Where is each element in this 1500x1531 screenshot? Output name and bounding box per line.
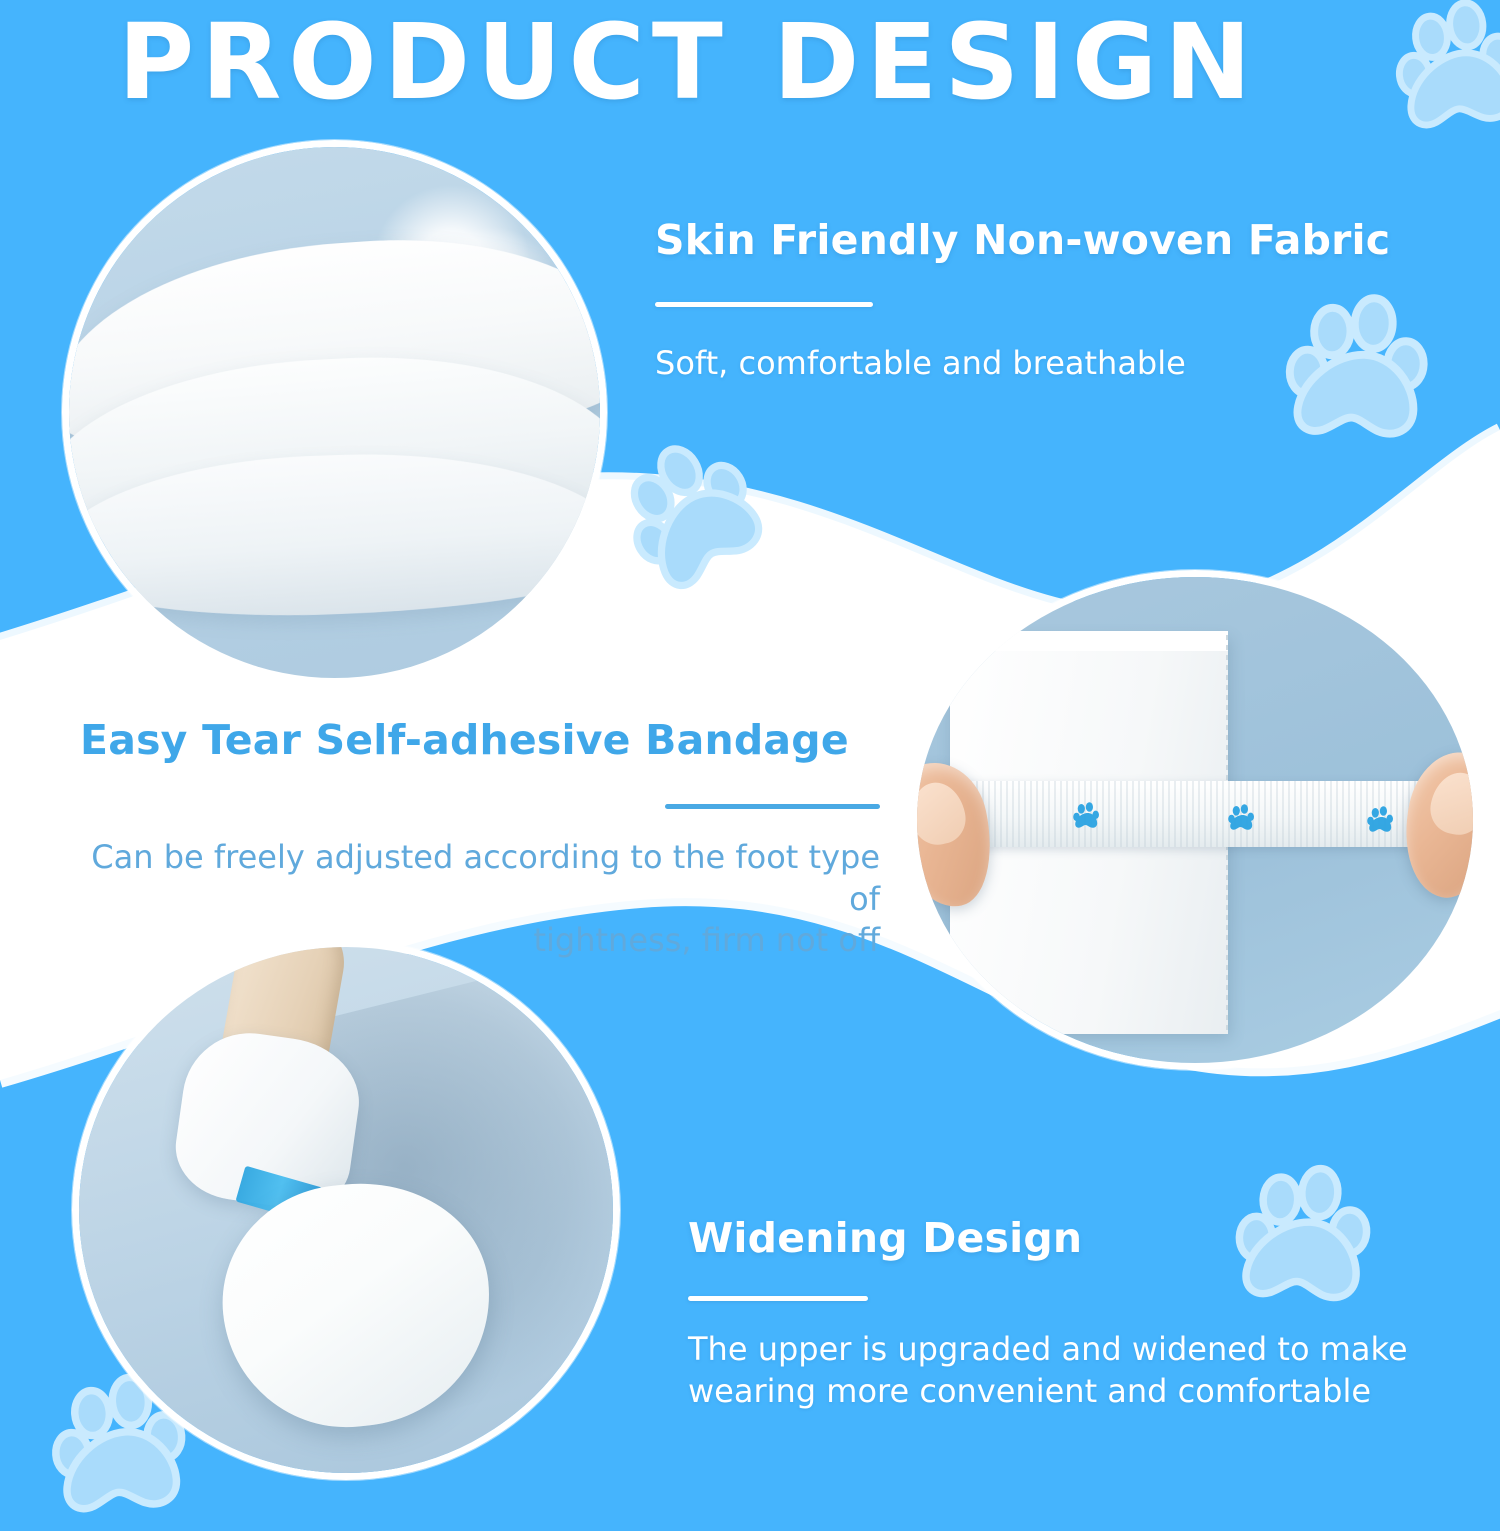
section-heading: Easy Tear Self-adhesive Bandage xyxy=(80,718,880,764)
section-divider xyxy=(655,302,873,307)
infographic-canvas: PRODUCT DESIGN Skin Friendly Non-woven F… xyxy=(0,0,1500,1500)
paw-print-icon xyxy=(1385,0,1500,149)
paw-print-icon xyxy=(1366,805,1396,835)
paw-print-icon xyxy=(1227,803,1257,833)
section-divider xyxy=(688,1296,868,1301)
section-heading: Skin Friendly Non-woven Fabric xyxy=(655,218,1455,264)
photo-dog-paw-boot xyxy=(72,940,620,1480)
photo-nonwoven-fabric xyxy=(62,140,607,685)
page-title: PRODUCT DESIGN xyxy=(118,6,1258,118)
section-body-line-1: Can be freely adjusted according to the … xyxy=(91,838,880,918)
section-body-line-1: The upper is upgraded and widened to mak… xyxy=(688,1330,1408,1368)
section-body-line-2: tightness, firm not off xyxy=(533,921,880,959)
section-body: Can be freely adjusted according to the … xyxy=(80,837,880,962)
section-body: The upper is upgraded and widened to mak… xyxy=(688,1329,1448,1412)
section-easy-tear: Easy Tear Self-adhesive Bandage Can be f… xyxy=(80,718,880,962)
section-divider xyxy=(665,804,880,809)
section-skin-friendly: Skin Friendly Non-woven Fabric Soft, com… xyxy=(655,218,1455,385)
section-heading: Widening Design xyxy=(688,1216,1448,1262)
section-widening-design: Widening Design The upper is upgraded an… xyxy=(688,1216,1448,1412)
section-body-line-2: wearing more convenient and comfortable xyxy=(688,1372,1371,1410)
section-body: Soft, comfortable and breathable xyxy=(655,343,1455,385)
photo-selfadhesive-bandage xyxy=(910,570,1480,1070)
paw-print-icon xyxy=(1072,801,1102,831)
